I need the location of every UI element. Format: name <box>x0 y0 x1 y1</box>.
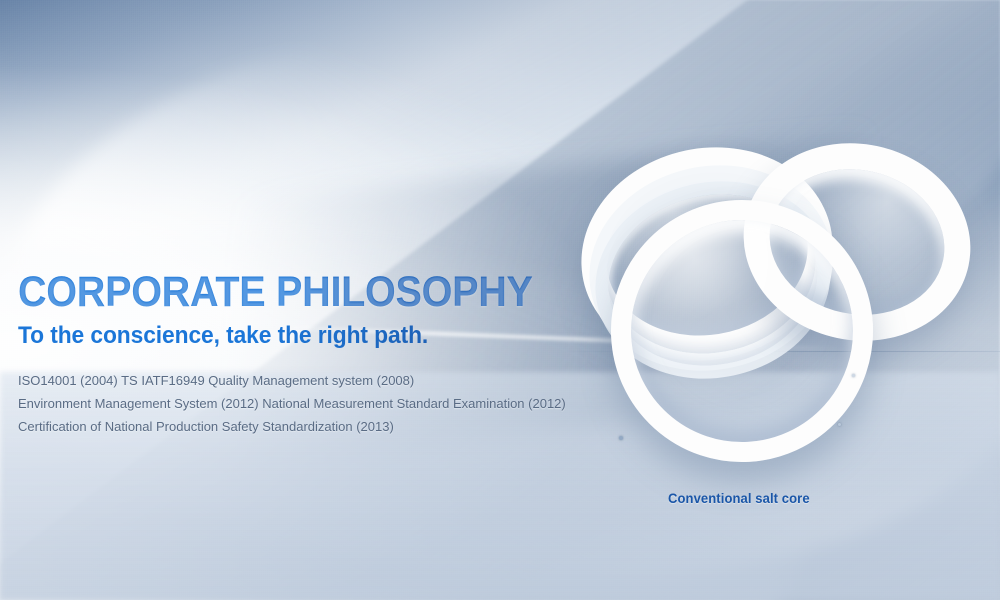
certification-item: Environment Management System (2012) Nat… <box>18 392 638 415</box>
product-caption: Conventional salt core <box>668 490 810 506</box>
page-title: CORPORATE PHILOSOPHY <box>18 268 588 316</box>
ring-pinhole-upper <box>852 374 855 377</box>
certification-item: Certification of National Production Saf… <box>18 415 638 438</box>
ring-pinhole-right <box>838 423 841 426</box>
corporate-philosophy-banner: CORPORATE PHILOSOPHY To the conscience, … <box>0 0 1000 600</box>
certification-list: ISO14001 (2004) TS IATF16949 Quality Man… <box>18 369 638 438</box>
text-block: CORPORATE PHILOSOPHY To the conscience, … <box>18 268 638 438</box>
certification-item: ISO14001 (2004) TS IATF16949 Quality Man… <box>18 369 638 392</box>
page-subtitle: To the conscience, take the right path. <box>18 321 607 351</box>
